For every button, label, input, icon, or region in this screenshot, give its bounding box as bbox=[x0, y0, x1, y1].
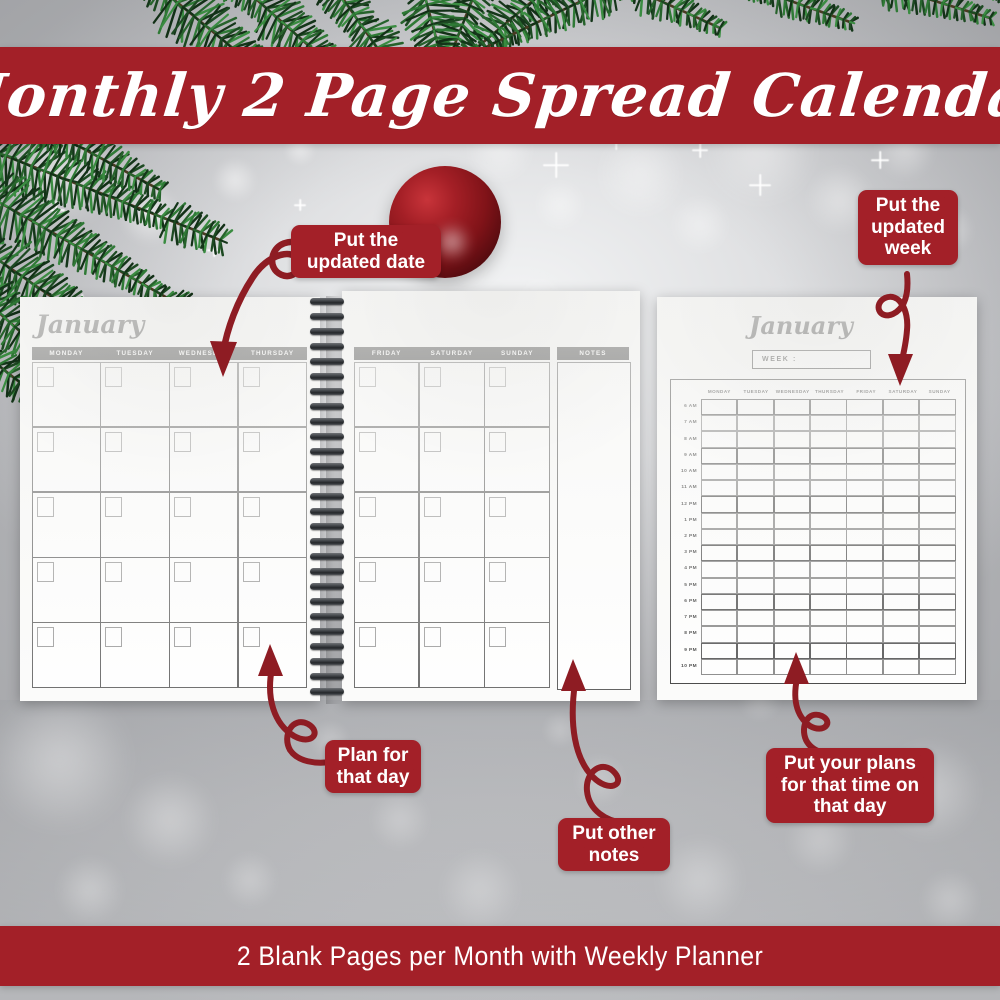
weekly-time-cell[interactable] bbox=[737, 480, 774, 496]
weekly-time-cell[interactable] bbox=[919, 431, 956, 447]
spiral-ring bbox=[310, 313, 344, 320]
calendar-day-cell[interactable] bbox=[484, 557, 550, 623]
weekly-time-row bbox=[701, 578, 958, 594]
spiral-ring bbox=[310, 493, 344, 500]
weekly-time-cell[interactable] bbox=[846, 399, 883, 415]
weekly-time-cell[interactable] bbox=[701, 578, 738, 594]
callout-line: notes bbox=[584, 845, 645, 867]
weekly-time-cell[interactable] bbox=[846, 561, 883, 577]
weekly-time-cell[interactable] bbox=[919, 561, 956, 577]
weekly-time-cell[interactable] bbox=[919, 464, 956, 480]
weekly-time-cell[interactable] bbox=[919, 399, 956, 415]
weekly-time-row bbox=[701, 480, 958, 496]
weekly-time-cell[interactable] bbox=[701, 594, 738, 610]
calendar-day-cell[interactable] bbox=[419, 362, 485, 428]
weekly-time-cell[interactable] bbox=[701, 626, 738, 642]
weekly-time-cell[interactable] bbox=[737, 561, 774, 577]
date-number-box[interactable] bbox=[489, 627, 506, 647]
calendar-day-cell[interactable] bbox=[354, 557, 420, 623]
weekly-time-label: 12 PM bbox=[681, 502, 697, 507]
callout-line: that day bbox=[332, 767, 415, 789]
weekly-time-label: 8 AM bbox=[684, 437, 697, 442]
spiral-ring bbox=[310, 418, 344, 425]
weekly-time-grid bbox=[701, 399, 958, 675]
weekly-time-cell[interactable] bbox=[810, 415, 847, 431]
callout-updated-date: Put the updated date bbox=[291, 225, 441, 278]
date-number-box[interactable] bbox=[359, 627, 376, 647]
weekly-time-cell[interactable] bbox=[883, 399, 920, 415]
weekly-time-cell[interactable] bbox=[774, 529, 811, 545]
left-page-month-grid bbox=[32, 362, 307, 688]
date-number-box[interactable] bbox=[105, 627, 122, 647]
weekly-time-cell[interactable] bbox=[919, 480, 956, 496]
weekly-time-cell[interactable] bbox=[810, 431, 847, 447]
calendar-day-cell[interactable] bbox=[100, 557, 169, 623]
weekly-time-cell[interactable] bbox=[774, 513, 811, 529]
callout-line: updated date bbox=[302, 252, 430, 274]
spiral-ring bbox=[310, 613, 344, 620]
weekly-time-label: 11 AM bbox=[681, 485, 697, 490]
spiral-ring bbox=[310, 433, 344, 440]
weekly-time-cell[interactable] bbox=[883, 610, 920, 626]
spiral-ring bbox=[310, 553, 344, 560]
calendar-day-cell[interactable] bbox=[32, 492, 101, 558]
weekly-time-cell[interactable] bbox=[810, 480, 847, 496]
weekly-time-label: 3 PM bbox=[684, 550, 697, 555]
weekly-time-row bbox=[701, 610, 958, 626]
date-number-box[interactable] bbox=[243, 627, 260, 647]
weekly-time-cell[interactable] bbox=[737, 513, 774, 529]
day-header-wednesday: WEDNESDAY bbox=[170, 347, 239, 360]
weekly-time-cell[interactable] bbox=[701, 399, 738, 415]
weekly-time-cell[interactable] bbox=[846, 594, 883, 610]
weekly-time-cell[interactable] bbox=[774, 578, 811, 594]
weekly-time-cell[interactable] bbox=[919, 594, 956, 610]
weekly-time-cell[interactable] bbox=[810, 448, 847, 464]
callout-line: Put other bbox=[567, 823, 660, 845]
weekly-time-row bbox=[701, 643, 958, 659]
weekly-time-cell[interactable] bbox=[737, 431, 774, 447]
date-number-box[interactable] bbox=[359, 497, 376, 517]
date-number-box[interactable] bbox=[37, 627, 54, 647]
weekly-time-cell[interactable] bbox=[774, 464, 811, 480]
date-number-box[interactable] bbox=[174, 367, 191, 387]
weekly-time-cell[interactable] bbox=[883, 659, 920, 675]
week-field-label: WEEK : bbox=[753, 356, 797, 363]
calendar-day-cell[interactable] bbox=[32, 557, 101, 623]
spiral-ring bbox=[310, 628, 344, 635]
weekly-time-cell[interactable] bbox=[701, 545, 738, 561]
weekly-time-row bbox=[701, 464, 958, 480]
day-header-sunday: SUNDAY bbox=[485, 347, 550, 360]
weekly-time-cell[interactable] bbox=[701, 480, 738, 496]
weekly-day-header-row: MONDAYTUESDAYWEDNESDAYTHURSDAYFRIDAYSATU… bbox=[670, 385, 964, 397]
date-number-box[interactable] bbox=[489, 367, 506, 387]
weekly-time-cell[interactable] bbox=[701, 448, 738, 464]
weekly-time-cell[interactable] bbox=[846, 464, 883, 480]
weekly-time-cell[interactable] bbox=[774, 561, 811, 577]
weekly-time-cell[interactable] bbox=[883, 480, 920, 496]
weekly-time-cell[interactable] bbox=[846, 513, 883, 529]
weekly-time-cell[interactable] bbox=[701, 431, 738, 447]
date-number-box[interactable] bbox=[424, 562, 441, 582]
date-number-box[interactable] bbox=[243, 497, 260, 517]
date-number-box[interactable] bbox=[243, 432, 260, 452]
callout-line: Put the bbox=[871, 195, 945, 217]
day-header-friday: FRIDAY bbox=[354, 347, 419, 360]
weekly-time-cell[interactable] bbox=[846, 480, 883, 496]
spiral-ring bbox=[310, 448, 344, 455]
calendar-day-cell[interactable] bbox=[354, 492, 420, 558]
weekly-time-cell[interactable] bbox=[846, 643, 883, 659]
weekly-time-cell[interactable] bbox=[774, 545, 811, 561]
notes-column[interactable] bbox=[557, 362, 631, 690]
weekly-time-cell[interactable] bbox=[701, 561, 738, 577]
weekly-time-cell[interactable] bbox=[810, 513, 847, 529]
calendar-day-cell[interactable] bbox=[354, 362, 420, 428]
weekly-time-cell[interactable] bbox=[846, 626, 883, 642]
weekly-time-row bbox=[701, 626, 958, 642]
weekly-time-label: 6 AM bbox=[684, 404, 697, 409]
date-number-box[interactable] bbox=[174, 562, 191, 582]
weekly-day-header-saturday: SATURDAY bbox=[885, 385, 922, 397]
weekly-time-cell[interactable] bbox=[774, 480, 811, 496]
weekly-time-cell[interactable] bbox=[846, 415, 883, 431]
weekly-time-cell[interactable] bbox=[846, 545, 883, 561]
day-header-tuesday: TUESDAY bbox=[101, 347, 170, 360]
calendar-day-cell[interactable] bbox=[32, 362, 101, 428]
date-number-box[interactable] bbox=[105, 432, 122, 452]
calendar-day-cell[interactable] bbox=[169, 622, 238, 688]
weekly-time-cell[interactable] bbox=[810, 529, 847, 545]
weekly-time-cell[interactable] bbox=[846, 448, 883, 464]
weekly-time-row bbox=[701, 431, 958, 447]
weekly-time-cell[interactable] bbox=[919, 643, 956, 659]
calendar-day-cell[interactable] bbox=[238, 622, 307, 688]
calendar-day-cell[interactable] bbox=[32, 622, 101, 688]
weekly-time-label: 10 PM bbox=[681, 664, 697, 669]
weekly-time-cell[interactable] bbox=[737, 594, 774, 610]
weekly-time-cell[interactable] bbox=[737, 578, 774, 594]
date-number-box[interactable] bbox=[37, 367, 54, 387]
date-number-box[interactable] bbox=[489, 497, 506, 517]
weekly-time-labels: 6 AM7 AM8 AM9 AM10 AM11 AM12 PM1 PM2 PM3… bbox=[673, 399, 699, 675]
calendar-day-cell[interactable] bbox=[238, 557, 307, 623]
weekly-time-cell[interactable] bbox=[883, 464, 920, 480]
weekly-time-cell[interactable] bbox=[810, 561, 847, 577]
week-field[interactable]: WEEK : bbox=[752, 350, 871, 369]
weekly-time-row bbox=[701, 448, 958, 464]
spiral-ring bbox=[310, 568, 344, 575]
weekly-day-header-friday: FRIDAY bbox=[848, 385, 885, 397]
weekly-time-cell[interactable] bbox=[919, 415, 956, 431]
weekly-day-header-monday: MONDAY bbox=[701, 385, 738, 397]
day-header-thursday: THURSDAY bbox=[238, 347, 307, 360]
spiral-ring bbox=[310, 583, 344, 590]
weekly-time-row bbox=[701, 513, 958, 529]
weekly-time-label: 2 PM bbox=[684, 534, 697, 539]
right-page-day-header-row: FRIDAYSATURDAYSUNDAY bbox=[354, 347, 550, 360]
date-number-box[interactable] bbox=[424, 432, 441, 452]
calendar-day-cell[interactable] bbox=[32, 427, 101, 493]
weekly-time-cell[interactable] bbox=[701, 610, 738, 626]
weekly-time-cell[interactable] bbox=[919, 545, 956, 561]
calendar-day-cell[interactable] bbox=[100, 362, 169, 428]
weekly-time-cell[interactable] bbox=[846, 496, 883, 512]
date-number-box[interactable] bbox=[489, 562, 506, 582]
calendar-day-cell[interactable] bbox=[238, 492, 307, 558]
weekly-time-row bbox=[701, 561, 958, 577]
date-number-box[interactable] bbox=[105, 497, 122, 517]
date-number-box[interactable] bbox=[37, 562, 54, 582]
weekly-time-cell[interactable] bbox=[737, 415, 774, 431]
date-number-box[interactable] bbox=[174, 497, 191, 517]
weekly-time-cell[interactable] bbox=[883, 643, 920, 659]
callout-line: Plan for bbox=[333, 745, 414, 767]
calendar-day-cell[interactable] bbox=[100, 622, 169, 688]
weekly-time-cell[interactable] bbox=[701, 496, 738, 512]
date-number-box[interactable] bbox=[489, 432, 506, 452]
weekly-time-cell[interactable] bbox=[810, 643, 847, 659]
weekly-time-cell[interactable] bbox=[774, 415, 811, 431]
weekly-time-cell[interactable] bbox=[810, 626, 847, 642]
callout-put-your-plans: Put your plans for that time on that day bbox=[766, 748, 934, 823]
weekly-time-cell[interactable] bbox=[883, 578, 920, 594]
weekly-time-cell[interactable] bbox=[737, 626, 774, 642]
weekly-time-label: 6 PM bbox=[684, 599, 697, 604]
spiral-ring bbox=[310, 328, 344, 335]
weekly-time-row bbox=[701, 529, 958, 545]
date-number-box[interactable] bbox=[37, 432, 54, 452]
weekly-time-cell[interactable] bbox=[810, 594, 847, 610]
date-number-box[interactable] bbox=[359, 562, 376, 582]
spiral-ring bbox=[310, 403, 344, 410]
weekly-time-row bbox=[701, 399, 958, 415]
calendar-day-cell[interactable] bbox=[100, 427, 169, 493]
calendar-day-cell[interactable] bbox=[484, 362, 550, 428]
bottom-banner: 2 Blank Pages per Month with Weekly Plan… bbox=[0, 926, 1000, 986]
weekly-time-cell[interactable] bbox=[883, 415, 920, 431]
weekly-day-header-thursday: THURSDAY bbox=[811, 385, 848, 397]
spiral-ring bbox=[310, 373, 344, 380]
spiral-ring bbox=[310, 598, 344, 605]
weekly-time-cell[interactable] bbox=[774, 496, 811, 512]
callout-line: for that time on bbox=[776, 775, 924, 797]
weekly-time-cell[interactable] bbox=[919, 513, 956, 529]
weekly-time-cell[interactable] bbox=[810, 659, 847, 675]
callout-line: Put your plans bbox=[779, 753, 921, 775]
weekly-time-cell[interactable] bbox=[883, 561, 920, 577]
weekly-time-label: 7 AM bbox=[684, 420, 697, 425]
callout-updated-week: Put the updated week bbox=[858, 190, 958, 265]
date-number-box[interactable] bbox=[424, 367, 441, 387]
weekly-time-cell[interactable] bbox=[810, 464, 847, 480]
date-number-box[interactable] bbox=[37, 497, 54, 517]
weekly-time-cell[interactable] bbox=[774, 626, 811, 642]
weekly-time-cell[interactable] bbox=[846, 431, 883, 447]
weekly-time-cell[interactable] bbox=[883, 431, 920, 447]
date-number-box[interactable] bbox=[243, 367, 260, 387]
weekly-time-cell[interactable] bbox=[701, 643, 738, 659]
weekly-time-label: 4 PM bbox=[684, 566, 697, 571]
calendar-day-cell[interactable] bbox=[419, 557, 485, 623]
calendar-day-cell[interactable] bbox=[169, 557, 238, 623]
day-header-saturday: SATURDAY bbox=[419, 347, 484, 360]
weekly-time-cell[interactable] bbox=[774, 643, 811, 659]
spiral-ring bbox=[310, 388, 344, 395]
weekly-time-label: 7 PM bbox=[684, 615, 697, 620]
weekly-time-cell[interactable] bbox=[919, 610, 956, 626]
calendar-day-cell[interactable] bbox=[484, 427, 550, 493]
weekly-time-cell[interactable] bbox=[774, 659, 811, 675]
weekly-time-cell[interactable] bbox=[846, 659, 883, 675]
weekly-time-cell[interactable] bbox=[919, 496, 956, 512]
weekly-time-row bbox=[701, 659, 958, 675]
spiral-ring bbox=[310, 508, 344, 515]
weekly-time-cell[interactable] bbox=[701, 513, 738, 529]
date-number-box[interactable] bbox=[424, 627, 441, 647]
callout-put-other-notes: Put other notes bbox=[558, 818, 670, 871]
callout-line: Put the bbox=[329, 230, 403, 252]
callout-line: updated bbox=[866, 217, 950, 239]
weekly-time-cell[interactable] bbox=[737, 529, 774, 545]
weekly-time-cell[interactable] bbox=[919, 659, 956, 675]
weekly-time-cell[interactable] bbox=[737, 496, 774, 512]
calendar-day-cell[interactable] bbox=[169, 427, 238, 493]
weekly-day-header-tuesday: TUESDAY bbox=[738, 385, 775, 397]
weekly-time-cell[interactable] bbox=[737, 545, 774, 561]
spiral-ring bbox=[310, 523, 344, 530]
monthly-right-page: FRIDAYSATURDAYSUNDAY NOTES bbox=[342, 291, 640, 701]
spiral-ring bbox=[310, 298, 344, 305]
callout-line: that day bbox=[809, 796, 892, 818]
weekly-time-cell[interactable] bbox=[701, 464, 738, 480]
date-number-box[interactable] bbox=[174, 627, 191, 647]
calendar-day-cell[interactable] bbox=[238, 427, 307, 493]
calendar-day-cell[interactable] bbox=[354, 427, 420, 493]
weekly-time-cell[interactable] bbox=[919, 529, 956, 545]
weekly-time-cell[interactable] bbox=[883, 448, 920, 464]
weekly-time-cell[interactable] bbox=[810, 496, 847, 512]
right-page-month-grid bbox=[354, 362, 550, 688]
date-number-box[interactable] bbox=[424, 497, 441, 517]
weekly-time-cell[interactable] bbox=[883, 529, 920, 545]
calendar-day-cell[interactable] bbox=[169, 492, 238, 558]
weekly-time-label: 1 PM bbox=[684, 518, 697, 523]
calendar-day-cell[interactable] bbox=[354, 622, 420, 688]
spiral-ring bbox=[310, 358, 344, 365]
calendar-day-cell[interactable] bbox=[238, 362, 307, 428]
weekly-time-cell[interactable] bbox=[810, 399, 847, 415]
weekly-time-cell[interactable] bbox=[883, 513, 920, 529]
weekly-time-cell[interactable] bbox=[774, 448, 811, 464]
weekly-time-cell[interactable] bbox=[701, 415, 738, 431]
weekly-time-label: 5 PM bbox=[684, 583, 697, 588]
weekly-time-cell[interactable] bbox=[919, 626, 956, 642]
spiral-ring bbox=[310, 658, 344, 665]
weekly-time-cell[interactable] bbox=[883, 594, 920, 610]
spiral-ring bbox=[310, 478, 344, 485]
weekly-time-cell[interactable] bbox=[810, 578, 847, 594]
calendar-day-cell[interactable] bbox=[484, 622, 550, 688]
calendar-day-cell[interactable] bbox=[100, 492, 169, 558]
weekly-time-cell[interactable] bbox=[701, 659, 738, 675]
weekly-time-label: 8 PM bbox=[684, 631, 697, 636]
calendar-day-cell[interactable] bbox=[419, 492, 485, 558]
weekly-time-cell[interactable] bbox=[919, 448, 956, 464]
weekly-time-cell[interactable] bbox=[737, 610, 774, 626]
weekly-time-cell[interactable] bbox=[846, 529, 883, 545]
weekly-time-cell[interactable] bbox=[737, 464, 774, 480]
spiral-ring bbox=[310, 673, 344, 680]
weekly-planner-page: January WEEK : MONDAYTUESDAYWEDNESDAYTHU… bbox=[657, 297, 977, 700]
weekly-time-cell[interactable] bbox=[774, 594, 811, 610]
weekly-time-cell[interactable] bbox=[774, 610, 811, 626]
weekly-time-cell[interactable] bbox=[774, 431, 811, 447]
weekly-time-cell[interactable] bbox=[919, 578, 956, 594]
poster-canvas: Monthly 2 Page Spread Calendar January M… bbox=[0, 0, 1000, 1000]
spiral-ring bbox=[310, 343, 344, 350]
calendar-day-cell[interactable] bbox=[169, 362, 238, 428]
spiral-binding bbox=[310, 296, 348, 704]
date-number-box[interactable] bbox=[359, 432, 376, 452]
spiral-ring bbox=[310, 643, 344, 650]
weekly-time-cell[interactable] bbox=[737, 448, 774, 464]
notes-header: NOTES bbox=[557, 347, 629, 360]
weekly-month-title: January bbox=[749, 311, 853, 340]
date-number-box[interactable] bbox=[359, 367, 376, 387]
weekly-time-cell[interactable] bbox=[846, 610, 883, 626]
spiral-ring bbox=[310, 538, 344, 545]
weekly-time-cell[interactable] bbox=[774, 399, 811, 415]
weekly-time-cell[interactable] bbox=[846, 578, 883, 594]
weekly-day-header-sunday: SUNDAY bbox=[921, 385, 958, 397]
calendar-day-cell[interactable] bbox=[419, 427, 485, 493]
day-header-monday: MONDAY bbox=[32, 347, 101, 360]
date-number-box[interactable] bbox=[105, 367, 122, 387]
weekly-day-header-wednesday: WEDNESDAY bbox=[774, 385, 811, 397]
calendar-day-cell[interactable] bbox=[419, 622, 485, 688]
spiral-ring bbox=[310, 688, 344, 695]
weekly-time-row bbox=[701, 496, 958, 512]
weekly-time-cell[interactable] bbox=[737, 399, 774, 415]
left-page-month-title: January bbox=[36, 310, 144, 339]
callout-plan-for-that-day: Plan for that day bbox=[325, 740, 421, 793]
weekly-time-cell[interactable] bbox=[737, 659, 774, 675]
notes-header-label: NOTES bbox=[557, 347, 629, 360]
weekly-time-row bbox=[701, 415, 958, 431]
weekly-time-cell[interactable] bbox=[737, 643, 774, 659]
weekly-time-cell[interactable] bbox=[701, 529, 738, 545]
weekly-time-label: 10 AM bbox=[681, 469, 697, 474]
weekly-time-label: 9 AM bbox=[684, 453, 697, 458]
poster-title: Monthly 2 Page Spread Calendar bbox=[0, 66, 1000, 125]
weekly-time-cell[interactable] bbox=[883, 545, 920, 561]
weekly-time-cell[interactable] bbox=[810, 610, 847, 626]
poster-subtitle: 2 Blank Pages per Month with Weekly Plan… bbox=[237, 943, 763, 970]
weekly-time-label: 9 PM bbox=[684, 648, 697, 653]
date-number-box[interactable] bbox=[243, 562, 260, 582]
date-number-box[interactable] bbox=[174, 432, 191, 452]
monthly-left-page: January MONDAYTUESDAYWEDNESDAYTHURSDAY bbox=[20, 297, 320, 701]
weekly-time-cell[interactable] bbox=[883, 626, 920, 642]
weekly-time-cell[interactable] bbox=[810, 545, 847, 561]
date-number-box[interactable] bbox=[105, 562, 122, 582]
spiral-ring bbox=[310, 463, 344, 470]
weekly-time-cell[interactable] bbox=[883, 496, 920, 512]
calendar-day-cell[interactable] bbox=[484, 492, 550, 558]
weekly-time-row bbox=[701, 594, 958, 610]
